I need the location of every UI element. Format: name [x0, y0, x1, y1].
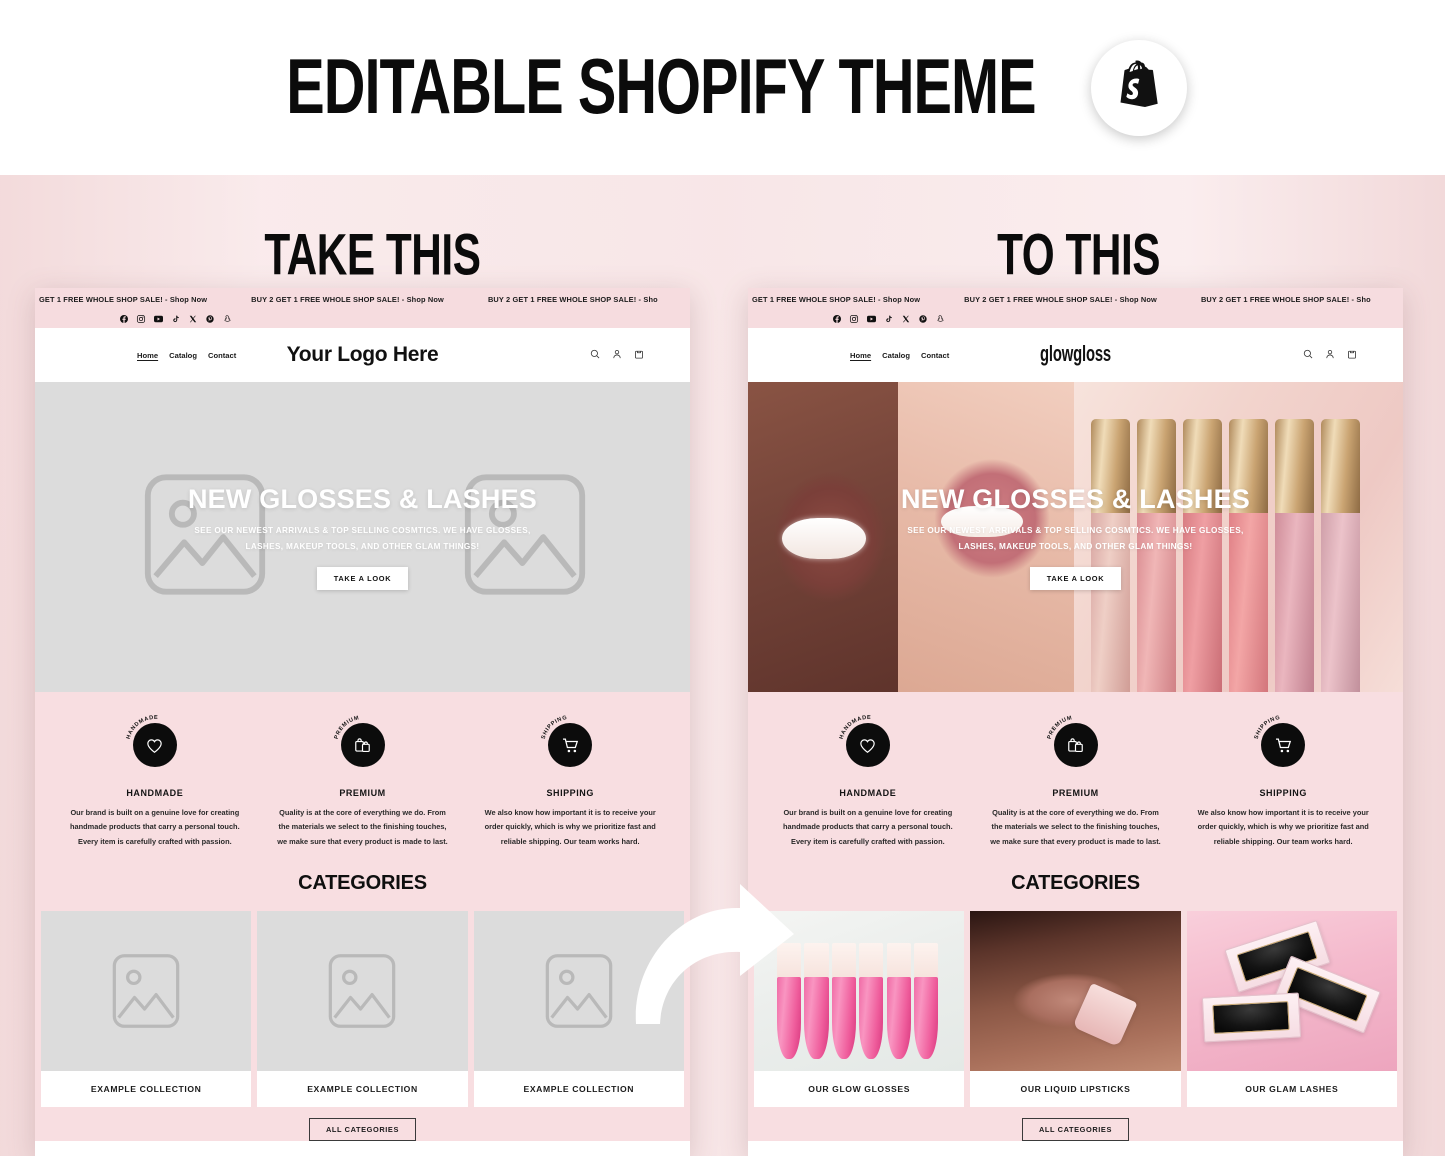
- social-links-row[interactable]: [35, 310, 690, 328]
- hero-cta-button[interactable]: TAKE A LOOK: [317, 567, 409, 590]
- feature-body: Our brand is built on a genuine love for…: [65, 806, 245, 849]
- feature-title: SHIPPING: [480, 788, 660, 798]
- after-column-label: TO THIS: [997, 219, 1160, 288]
- shopping-bags-icon: [1054, 723, 1098, 767]
- feature-body: We also know how important it is to rece…: [480, 806, 660, 849]
- announcement-text-2: BUY 2 GET 1 FREE WHOLE SHOP SALE! - Shop…: [251, 295, 444, 304]
- heart-icon: [133, 723, 177, 767]
- categories-grid: EXAMPLE COLLECTION EXAMPLE COLLECTION EX…: [35, 911, 690, 1107]
- category-label: OUR GLAM LASHES: [1187, 1071, 1397, 1107]
- categories-grid: OUR GLOW GLOSSES OUR LIQUID LIPSTICKS OU…: [748, 911, 1403, 1107]
- top-banner: EDITABLE SHOPIFY THEME: [0, 0, 1445, 175]
- feature-body: Quality is at the core of everything we …: [273, 806, 453, 849]
- announcement-text-3: BUY 2 GET 1 FREE WHOLE SHOP SALE! - Sho: [1201, 295, 1371, 304]
- social-links-row[interactable]: [748, 310, 1403, 328]
- feature-body: We also know how important it is to rece…: [1193, 806, 1373, 849]
- category-label: EXAMPLE COLLECTION: [474, 1071, 684, 1107]
- feature-badge: HANDMADE: [124, 714, 186, 776]
- tiktok-icon[interactable]: [172, 315, 180, 323]
- youtube-icon[interactable]: [154, 315, 163, 323]
- categories-footer: ALL CATEGORIES: [748, 1107, 1403, 1141]
- hero-heading: NEW GLOSSES & LASHES: [748, 484, 1403, 515]
- primary-nav[interactable]: Home Catalog Contact: [850, 351, 949, 360]
- category-label: OUR LIQUID LIPSTICKS: [970, 1071, 1180, 1107]
- nav-item-catalog[interactable]: Catalog: [882, 351, 910, 360]
- announcement-text-1: GET 1 FREE WHOLE SHOP SALE! - Shop Now: [39, 295, 207, 304]
- after-store-preview: GET 1 FREE WHOLE SHOP SALE! - Shop Now B…: [748, 288, 1403, 1156]
- feature-shipping: SHIPPING SHIPPING We also know how impor…: [1179, 714, 1387, 849]
- category-thumbnail: [257, 911, 467, 1071]
- search-icon[interactable]: [1303, 346, 1313, 364]
- category-card[interactable]: EXAMPLE COLLECTION: [41, 911, 251, 1107]
- features-section: HANDMADE HANDMADE Our brand is built on …: [748, 692, 1403, 863]
- feature-shipping: SHIPPING SHIPPING We also know how impor…: [466, 714, 674, 849]
- category-card[interactable]: OUR GLAM LASHES: [1187, 911, 1397, 1107]
- feature-handmade: HANDMADE HANDMADE Our brand is built on …: [51, 714, 259, 849]
- category-thumbnail: [754, 911, 964, 1071]
- header-icon-group[interactable]: [590, 346, 672, 364]
- primary-nav[interactable]: Home Catalog Contact: [137, 351, 236, 360]
- announcement-bar[interactable]: GET 1 FREE WHOLE SHOP SALE! - Shop Now B…: [35, 288, 690, 310]
- shopify-bag-icon: [1115, 58, 1163, 117]
- hero-content: NEW GLOSSES & LASHES SEE OUR NEWEST ARRI…: [35, 484, 690, 589]
- features-section: HANDMADE HANDMADE Our brand is built on …: [35, 692, 690, 863]
- pinterest-icon[interactable]: [919, 315, 927, 323]
- feature-badge: SHIPPING: [539, 714, 601, 776]
- categories-heading: CATEGORIES: [35, 872, 690, 895]
- hero-content: NEW GLOSSES & LASHES SEE OUR NEWEST ARRI…: [748, 484, 1403, 589]
- category-thumbnail: [970, 911, 1180, 1071]
- feature-body: Quality is at the core of everything we …: [986, 806, 1166, 849]
- category-label: EXAMPLE COLLECTION: [41, 1071, 251, 1107]
- account-icon[interactable]: [612, 346, 622, 364]
- all-categories-button[interactable]: ALL CATEGORIES: [1022, 1118, 1129, 1141]
- shopping-bags-icon: [341, 723, 385, 767]
- categories-heading: CATEGORIES: [748, 872, 1403, 895]
- category-thumbnail: [1187, 911, 1397, 1071]
- announcement-text-2: BUY 2 GET 1 FREE WHOLE SHOP SALE! - Shop…: [964, 295, 1157, 304]
- image-placeholder-icon: [326, 948, 398, 1034]
- feature-title: HANDMADE: [65, 788, 245, 798]
- nav-item-catalog[interactable]: Catalog: [169, 351, 197, 360]
- facebook-icon[interactable]: [833, 315, 841, 323]
- heart-icon: [846, 723, 890, 767]
- hero-subtext: SEE OUR NEWEST ARRIVALS & TOP SELLING CO…: [193, 523, 533, 553]
- feature-badge: PREMIUM: [332, 714, 394, 776]
- feature-title: PREMIUM: [273, 788, 453, 798]
- feature-premium: PREMIUM PREMIUM Quality is at the core o…: [259, 714, 467, 849]
- category-label: EXAMPLE COLLECTION: [257, 1071, 467, 1107]
- image-placeholder-icon: [543, 948, 615, 1034]
- hero-section: NEW GLOSSES & LASHES SEE OUR NEWEST ARRI…: [35, 382, 690, 692]
- category-card[interactable]: EXAMPLE COLLECTION: [257, 911, 467, 1107]
- image-placeholder-icon: [110, 948, 182, 1034]
- feature-badge: PREMIUM: [1045, 714, 1107, 776]
- cart-bag-icon[interactable]: [634, 346, 644, 364]
- category-card[interactable]: OUR LIQUID LIPSTICKS: [970, 911, 1180, 1107]
- search-icon[interactable]: [590, 346, 600, 364]
- feature-body: Our brand is built on a genuine love for…: [778, 806, 958, 849]
- nav-item-contact[interactable]: Contact: [921, 351, 949, 360]
- hero-cta-button[interactable]: TAKE A LOOK: [1030, 567, 1122, 590]
- feature-premium: PREMIUM PREMIUM Quality is at the core o…: [972, 714, 1180, 849]
- hero-subtext: SEE OUR NEWEST ARRIVALS & TOP SELLING CO…: [906, 523, 1246, 553]
- shopping-cart-icon: [1261, 723, 1305, 767]
- facebook-icon[interactable]: [120, 315, 128, 323]
- categories-header: CATEGORIES: [35, 863, 690, 911]
- announcement-text-1: GET 1 FREE WHOLE SHOP SALE! - Shop Now: [752, 295, 920, 304]
- account-icon[interactable]: [1325, 346, 1335, 364]
- categories-footer: ALL CATEGORIES: [35, 1107, 690, 1141]
- instagram-icon[interactable]: [850, 315, 858, 323]
- category-card[interactable]: OUR GLOW GLOSSES: [754, 911, 964, 1107]
- site-header: Home Catalog Contact Your Logo Here: [35, 328, 690, 382]
- feature-badge: HANDMADE: [837, 714, 899, 776]
- header-icon-group[interactable]: [1303, 346, 1385, 364]
- x-twitter-icon[interactable]: [189, 315, 197, 323]
- instagram-icon[interactable]: [137, 315, 145, 323]
- categories-header: CATEGORIES: [748, 863, 1403, 911]
- hero-section: NEW GLOSSES & LASHES SEE OUR NEWEST ARRI…: [748, 382, 1403, 692]
- before-column-label: TAKE THIS: [264, 219, 480, 288]
- snapchat-icon[interactable]: [223, 315, 231, 323]
- all-categories-button[interactable]: ALL CATEGORIES: [309, 1118, 416, 1141]
- shopify-logo-badge: [1091, 40, 1187, 136]
- hero-heading: NEW GLOSSES & LASHES: [35, 484, 690, 515]
- feature-title: PREMIUM: [986, 788, 1166, 798]
- nav-item-home[interactable]: Home: [137, 351, 158, 360]
- category-thumbnail: [474, 911, 684, 1071]
- shopping-cart-icon: [548, 723, 592, 767]
- category-label: OUR GLOW GLOSSES: [754, 1071, 964, 1107]
- feature-title: SHIPPING: [1193, 788, 1373, 798]
- site-header: Home Catalog Contact glowgloss: [748, 328, 1403, 382]
- comparison-stage: TAKE THIS TO THIS GET 1 FREE WHOLE SHOP …: [0, 175, 1445, 1156]
- tiktok-icon[interactable]: [885, 315, 893, 323]
- category-thumbnail: [41, 911, 251, 1071]
- feature-title: HANDMADE: [778, 788, 958, 798]
- nav-item-home[interactable]: Home: [850, 351, 871, 360]
- announcement-text-3: BUY 2 GET 1 FREE WHOLE SHOP SALE! - Sho: [488, 295, 658, 304]
- cart-bag-icon[interactable]: [1347, 346, 1357, 364]
- page-title: EDITABLE SHOPIFY THEME: [286, 43, 1035, 132]
- before-store-preview: GET 1 FREE WHOLE SHOP SALE! - Shop Now B…: [35, 288, 690, 1156]
- nav-item-contact[interactable]: Contact: [208, 351, 236, 360]
- feature-badge: SHIPPING: [1252, 714, 1314, 776]
- youtube-icon[interactable]: [867, 315, 876, 323]
- snapchat-icon[interactable]: [936, 315, 944, 323]
- category-card[interactable]: EXAMPLE COLLECTION: [474, 911, 684, 1107]
- announcement-bar[interactable]: GET 1 FREE WHOLE SHOP SALE! - Shop Now B…: [748, 288, 1403, 310]
- feature-handmade: HANDMADE HANDMADE Our brand is built on …: [764, 714, 972, 849]
- x-twitter-icon[interactable]: [902, 315, 910, 323]
- pinterest-icon[interactable]: [206, 315, 214, 323]
